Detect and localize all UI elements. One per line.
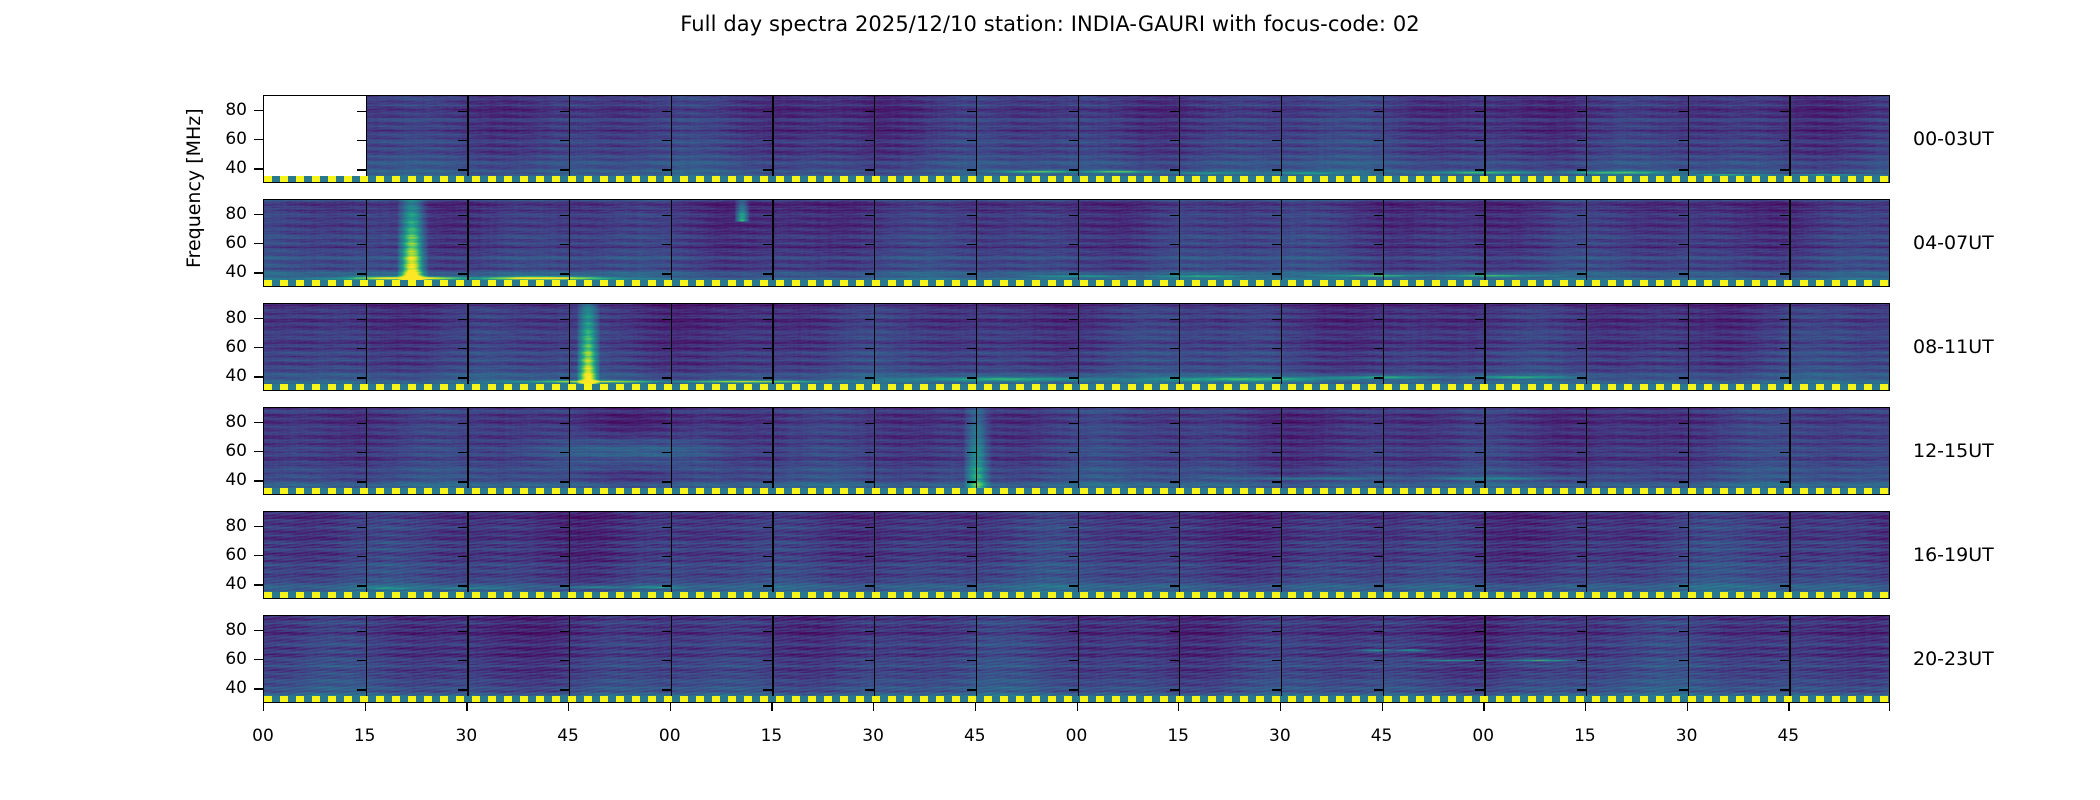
x-axis-tick-label: 30 [843, 726, 903, 746]
inner-tick [1272, 273, 1281, 274]
inner-tick [1272, 527, 1281, 528]
inner-tick [560, 631, 569, 632]
segment-gridline [1281, 96, 1282, 182]
inner-tick [763, 215, 772, 216]
inner-tick [357, 319, 366, 320]
inner-tick [662, 481, 671, 482]
frequency-marker-line [264, 280, 1889, 286]
segment-gridline [1078, 96, 1079, 182]
segment-gridline [467, 96, 468, 182]
segment-gridline [671, 304, 672, 390]
x-axis-tick [568, 703, 569, 711]
segment-gridline [1078, 408, 1079, 494]
inner-tick [1780, 273, 1789, 274]
inner-tick [1069, 111, 1078, 112]
inner-tick [1780, 377, 1789, 378]
inner-tick [1475, 215, 1484, 216]
inner-tick [1780, 452, 1789, 453]
frequency-marker-line [264, 384, 1889, 390]
inner-tick [560, 111, 569, 112]
inner-tick [763, 111, 772, 112]
y-axis-tick-label: 80 [201, 620, 247, 640]
inner-tick [357, 423, 366, 424]
inner-tick [1780, 660, 1789, 661]
segment-gridline [772, 200, 773, 286]
inner-tick [1170, 452, 1179, 453]
inner-tick [763, 452, 772, 453]
segment-gridline [569, 304, 570, 390]
segment-gridline [671, 200, 672, 286]
frequency-marker-line [264, 592, 1889, 598]
x-axis-tick [466, 703, 467, 711]
inner-tick [1272, 111, 1281, 112]
inner-tick [1272, 689, 1281, 690]
inner-tick [1475, 452, 1484, 453]
inner-tick [1475, 689, 1484, 690]
inner-tick [1577, 319, 1586, 320]
inner-tick [1069, 423, 1078, 424]
inner-tick [763, 689, 772, 690]
segment-gridline [1789, 512, 1790, 598]
inner-tick [1475, 319, 1484, 320]
inner-tick [662, 111, 671, 112]
inner-tick [865, 169, 874, 170]
inner-tick [560, 169, 569, 170]
x-axis-tick [975, 703, 976, 711]
inner-tick [1577, 631, 1586, 632]
inner-tick [357, 452, 366, 453]
inner-tick [1069, 244, 1078, 245]
inner-tick [1374, 689, 1383, 690]
inner-tick [763, 423, 772, 424]
inner-tick [1069, 631, 1078, 632]
inner-tick [1272, 481, 1281, 482]
inner-tick [1069, 169, 1078, 170]
y-axis-tick-label: 40 [201, 470, 247, 490]
inner-tick [763, 631, 772, 632]
x-axis-tick-label: 30 [1657, 726, 1717, 746]
inner-tick [458, 527, 467, 528]
segment-gridline [1179, 304, 1180, 390]
inner-tick [1577, 348, 1586, 349]
inner-tick [458, 348, 467, 349]
y-axis-tick [254, 376, 263, 377]
segment-gridline [366, 616, 367, 702]
inner-tick [967, 556, 976, 557]
inner-tick [1170, 423, 1179, 424]
inner-tick [763, 481, 772, 482]
inner-tick [1069, 527, 1078, 528]
inner-tick [1069, 556, 1078, 557]
inner-tick [1272, 452, 1281, 453]
spectrogram-panel [263, 199, 1890, 287]
y-axis-tick [254, 110, 263, 111]
inner-tick [357, 660, 366, 661]
inner-tick [560, 689, 569, 690]
x-axis-tick-label: 15 [335, 726, 395, 746]
inner-tick [1679, 244, 1688, 245]
inner-tick [662, 452, 671, 453]
inner-tick [1170, 631, 1179, 632]
inner-tick [1170, 348, 1179, 349]
inner-tick [560, 452, 569, 453]
segment-gridline [874, 200, 875, 286]
inner-tick [1374, 169, 1383, 170]
segment-gridline [1789, 96, 1790, 182]
y-axis-tick [254, 688, 263, 689]
inner-tick [560, 585, 569, 586]
inner-tick [763, 527, 772, 528]
inner-tick [967, 423, 976, 424]
inner-tick [1069, 689, 1078, 690]
y-axis-tick-label: 80 [201, 204, 247, 224]
inner-tick [763, 556, 772, 557]
inner-tick [560, 140, 569, 141]
inner-tick [357, 585, 366, 586]
inner-tick [560, 215, 569, 216]
inner-tick [967, 273, 976, 274]
segment-gridline [874, 96, 875, 182]
inner-tick [1679, 423, 1688, 424]
inner-tick [1577, 556, 1586, 557]
inner-tick [1577, 377, 1586, 378]
y-axis-tick [254, 347, 263, 348]
inner-tick [865, 452, 874, 453]
segment-gridline [1179, 512, 1180, 598]
inner-tick [1374, 452, 1383, 453]
segment-gridline [1688, 408, 1689, 494]
inner-tick [967, 452, 976, 453]
inner-tick [1475, 631, 1484, 632]
x-axis-tick-label: 00 [1453, 726, 1513, 746]
inner-tick [763, 319, 772, 320]
segment-gridline [569, 616, 570, 702]
inner-tick [458, 244, 467, 245]
segment-gridline [1281, 616, 1282, 702]
inner-tick [967, 244, 976, 245]
inner-tick [1475, 377, 1484, 378]
segment-gridline [1383, 200, 1384, 286]
inner-tick [1170, 319, 1179, 320]
x-axis-tick [1280, 703, 1281, 711]
inner-tick [1780, 556, 1789, 557]
inner-tick [1170, 689, 1179, 690]
inner-tick [1069, 481, 1078, 482]
inner-tick [1577, 660, 1586, 661]
inner-tick [357, 527, 366, 528]
row-time-label: 08-11UT [1913, 336, 1994, 358]
x-axis-tick-label: 15 [1148, 726, 1208, 746]
y-axis-tick [254, 451, 263, 452]
segment-gridline [772, 512, 773, 598]
inner-tick [865, 660, 874, 661]
inner-tick [1679, 631, 1688, 632]
x-axis-tick [873, 703, 874, 711]
segment-gridline [1789, 304, 1790, 390]
inner-tick [967, 111, 976, 112]
inner-tick [1374, 140, 1383, 141]
inner-tick [865, 140, 874, 141]
inner-tick [1170, 215, 1179, 216]
inner-tick [1577, 215, 1586, 216]
inner-tick [1170, 169, 1179, 170]
x-axis-tick-label: 00 [233, 726, 293, 746]
segment-gridline [1281, 408, 1282, 494]
y-axis-tick-label: 40 [201, 158, 247, 178]
figure-title: Full day spectra 2025/12/10 station: IND… [0, 12, 2100, 36]
inner-tick [458, 631, 467, 632]
row-time-label: 16-19UT [1913, 544, 1994, 566]
inner-tick [967, 348, 976, 349]
inner-tick [1069, 452, 1078, 453]
inner-tick [967, 169, 976, 170]
segment-gridline [366, 512, 367, 598]
inner-tick [865, 111, 874, 112]
inner-tick [1475, 585, 1484, 586]
inner-tick [1374, 377, 1383, 378]
x-axis-tick-label: 15 [741, 726, 801, 746]
inner-tick [865, 348, 874, 349]
x-axis-tick-label: 45 [945, 726, 1005, 746]
inner-tick [662, 273, 671, 274]
inner-tick [458, 273, 467, 274]
segment-gridline [976, 408, 977, 494]
inner-tick [1780, 215, 1789, 216]
inner-tick [1475, 111, 1484, 112]
segment-gridline [569, 96, 570, 182]
inner-tick [1679, 452, 1688, 453]
y-axis-tick-label: 80 [201, 308, 247, 328]
inner-tick [560, 481, 569, 482]
row-time-label: 00-03UT [1913, 128, 1994, 150]
row-time-label: 12-15UT [1913, 440, 1994, 462]
y-axis-tick [254, 272, 263, 273]
segment-gridline [874, 512, 875, 598]
inner-tick [458, 319, 467, 320]
inner-tick [865, 377, 874, 378]
y-axis-tick [254, 555, 263, 556]
segment-gridline [1586, 512, 1587, 598]
inner-tick [1069, 348, 1078, 349]
inner-tick [1374, 319, 1383, 320]
inner-tick [1679, 348, 1688, 349]
inner-tick [1780, 423, 1789, 424]
inner-tick [1374, 660, 1383, 661]
inner-tick [1780, 631, 1789, 632]
inner-tick [967, 481, 976, 482]
inner-tick [763, 660, 772, 661]
inner-tick [763, 273, 772, 274]
segment-gridline [1688, 512, 1689, 598]
x-axis-tick [365, 703, 366, 711]
x-axis-tick [1788, 703, 1789, 711]
x-axis-tick-label: 45 [1758, 726, 1818, 746]
segment-gridline [1383, 616, 1384, 702]
inner-tick [1272, 244, 1281, 245]
inner-tick [1679, 481, 1688, 482]
inner-tick [1475, 244, 1484, 245]
inner-tick [1780, 319, 1789, 320]
segment-gridline [1484, 200, 1485, 286]
inner-tick [1679, 556, 1688, 557]
inner-tick [662, 689, 671, 690]
inner-tick [1374, 423, 1383, 424]
y-axis-tick-label: 60 [201, 649, 247, 669]
inner-tick [1679, 527, 1688, 528]
inner-tick [865, 689, 874, 690]
inner-tick [1374, 631, 1383, 632]
spectrogram-row-04-07ut: 80604004-07UT [263, 199, 1890, 287]
segment-gridline [976, 512, 977, 598]
segment-gridline [772, 408, 773, 494]
inner-tick [1374, 481, 1383, 482]
x-axis-tick [1382, 703, 1383, 711]
inner-tick [560, 319, 569, 320]
segment-gridline [1586, 304, 1587, 390]
spectrogram-panel [263, 95, 1890, 183]
segment-gridline [1281, 304, 1282, 390]
segment-gridline [366, 200, 367, 286]
segment-gridline [1078, 200, 1079, 286]
inner-tick [1374, 111, 1383, 112]
frequency-marker-line [264, 488, 1889, 494]
inner-tick [357, 481, 366, 482]
y-axis-tick [254, 526, 263, 527]
inner-tick [1475, 660, 1484, 661]
inner-tick [458, 452, 467, 453]
inner-tick [763, 348, 772, 349]
segment-gridline [1179, 408, 1180, 494]
inner-tick [1577, 481, 1586, 482]
inner-tick [1679, 169, 1688, 170]
segment-gridline [1383, 512, 1384, 598]
inner-tick [1577, 273, 1586, 274]
inner-tick [1577, 140, 1586, 141]
x-axis-tick [1687, 703, 1688, 711]
inner-tick [458, 377, 467, 378]
inner-tick [1069, 377, 1078, 378]
inner-tick [967, 585, 976, 586]
inner-tick [1069, 319, 1078, 320]
y-axis-tick [254, 659, 263, 660]
y-axis-tick-label: 40 [201, 262, 247, 282]
inner-tick [560, 660, 569, 661]
inner-tick [1170, 660, 1179, 661]
inner-tick [560, 348, 569, 349]
segment-gridline [1586, 408, 1587, 494]
segment-gridline [569, 512, 570, 598]
inner-tick [1679, 319, 1688, 320]
inner-tick [1374, 527, 1383, 528]
segment-gridline [467, 304, 468, 390]
inner-tick [1475, 273, 1484, 274]
inner-tick [865, 585, 874, 586]
inner-tick [662, 423, 671, 424]
segment-gridline [976, 304, 977, 390]
y-axis-tick-label: 40 [201, 678, 247, 698]
inner-tick [1272, 423, 1281, 424]
segment-gridline [1484, 616, 1485, 702]
inner-tick [865, 215, 874, 216]
inner-tick [865, 631, 874, 632]
inner-tick [1679, 377, 1688, 378]
inner-tick [1475, 140, 1484, 141]
inner-tick [357, 111, 366, 112]
inner-tick [1475, 169, 1484, 170]
inner-tick [662, 527, 671, 528]
inner-tick [1780, 689, 1789, 690]
inner-tick [967, 689, 976, 690]
inner-tick [662, 631, 671, 632]
inner-tick [662, 348, 671, 349]
inner-tick [1577, 527, 1586, 528]
inner-tick [967, 631, 976, 632]
inner-tick [1679, 140, 1688, 141]
x-axis-tick [670, 703, 671, 711]
segment-gridline [772, 96, 773, 182]
inner-tick [1679, 215, 1688, 216]
y-axis-tick [254, 318, 263, 319]
inner-tick [357, 169, 366, 170]
segment-gridline [467, 200, 468, 286]
inner-tick [1272, 319, 1281, 320]
inner-tick [1170, 140, 1179, 141]
inner-tick [1374, 215, 1383, 216]
inner-tick [357, 140, 366, 141]
inner-tick [1272, 215, 1281, 216]
inner-tick [662, 377, 671, 378]
inner-tick [1780, 140, 1789, 141]
inner-tick [1170, 527, 1179, 528]
inner-tick [1577, 689, 1586, 690]
inner-tick [1069, 273, 1078, 274]
inner-tick [560, 527, 569, 528]
inner-tick [662, 244, 671, 245]
inner-tick [1679, 660, 1688, 661]
segment-gridline [1179, 200, 1180, 286]
segment-gridline [467, 408, 468, 494]
segment-gridline [366, 96, 367, 182]
inner-tick [865, 319, 874, 320]
inner-tick [662, 556, 671, 557]
inner-tick [1374, 273, 1383, 274]
x-axis-tick-label: 15 [1555, 726, 1615, 746]
inner-tick [865, 527, 874, 528]
inner-tick [458, 689, 467, 690]
segment-gridline [1586, 616, 1587, 702]
segment-gridline [1281, 512, 1282, 598]
inner-tick [1170, 377, 1179, 378]
inner-tick [458, 423, 467, 424]
inner-tick [1374, 244, 1383, 245]
inner-tick [357, 377, 366, 378]
inner-tick [1272, 140, 1281, 141]
inner-tick [1577, 111, 1586, 112]
segment-gridline [1586, 96, 1587, 182]
inner-tick [1780, 481, 1789, 482]
inner-tick [1577, 423, 1586, 424]
inner-tick [1069, 585, 1078, 586]
inner-tick [458, 585, 467, 586]
inner-tick [1475, 481, 1484, 482]
segment-gridline [1789, 408, 1790, 494]
segment-gridline [1484, 512, 1485, 598]
segment-gridline [772, 616, 773, 702]
spectrogram-row-12-15ut: 80604012-15UT [263, 407, 1890, 495]
inner-tick [357, 689, 366, 690]
inner-tick [1679, 689, 1688, 690]
segment-gridline [874, 408, 875, 494]
